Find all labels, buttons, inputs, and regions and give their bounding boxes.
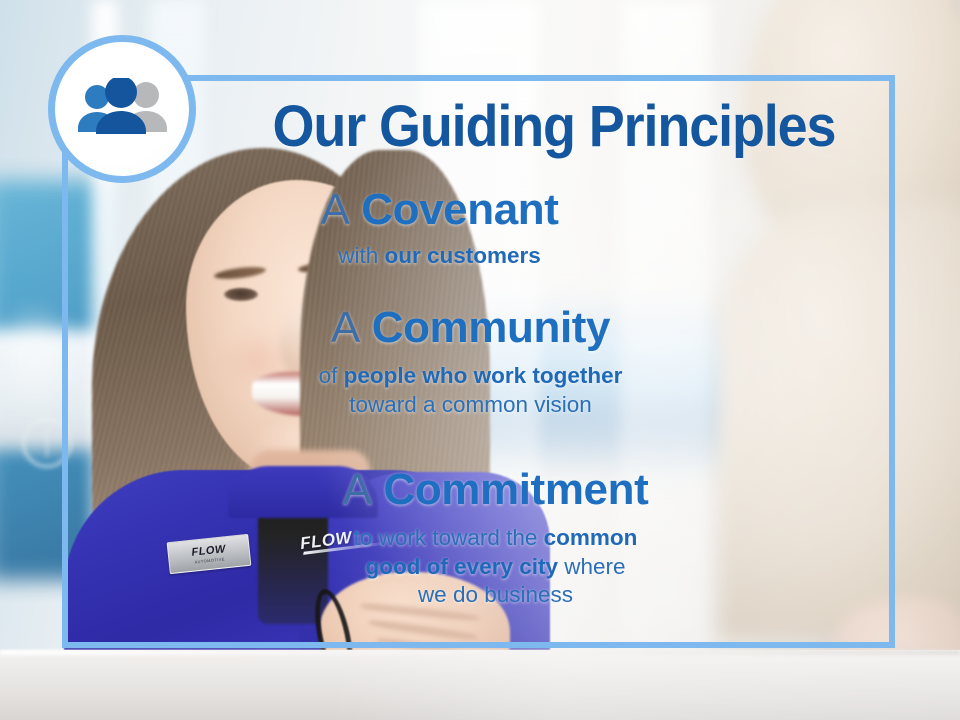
principle-article: A: [343, 465, 372, 514]
principle-covenant: A Covenant with our customers: [62, 188, 895, 271]
subtext-line: toward a common vision: [62, 391, 879, 420]
subtext-emphasis: common: [544, 525, 638, 550]
principle-article: A: [331, 303, 360, 352]
principle-heading: A Covenant: [62, 188, 817, 233]
subtext-run: we do business: [418, 582, 573, 607]
content-area: Our Guiding Principles A Covenant with o…: [62, 75, 895, 648]
subtext-run: where: [558, 554, 626, 579]
principle-subtext: with our customers: [62, 242, 817, 271]
subtext-run: with: [338, 243, 384, 268]
principle-commitment: A Commitment to work toward the commongo…: [62, 468, 895, 610]
subtext-line: good of every city where: [96, 553, 895, 582]
subtext-line: we do business: [96, 581, 895, 610]
principle-subtext: of people who work togethertoward a comm…: [62, 362, 879, 420]
subtext-line: with our customers: [62, 242, 817, 271]
principle-word: Community: [372, 303, 610, 352]
subtext-run: of: [319, 363, 344, 388]
guiding-principles-graphic: FLOW AUTOMOTIVE FLOW Our Guiding Princip…: [0, 0, 960, 720]
principle-heading: A Commitment: [96, 468, 895, 513]
subtext-run: to work toward the: [354, 525, 544, 550]
subtext-run: toward a common vision: [349, 392, 592, 417]
principle-word: Commitment: [383, 465, 648, 514]
principle-word: Covenant: [361, 185, 558, 234]
subtext-emphasis: people who work together: [344, 363, 623, 388]
principle-article: A: [320, 185, 349, 234]
subtext-line: to work toward the common: [96, 524, 895, 553]
principle-subtext: to work toward the commongood of every c…: [96, 524, 895, 610]
principle-heading: A Community: [62, 306, 879, 351]
subtext-emphasis: our customers: [384, 243, 540, 268]
subtext-line: of people who work together: [62, 362, 879, 391]
page-title: Our Guiding Principles: [238, 98, 870, 156]
principle-community: A Community of people who work togethert…: [62, 306, 895, 419]
subtext-emphasis: good of every city: [365, 554, 558, 579]
